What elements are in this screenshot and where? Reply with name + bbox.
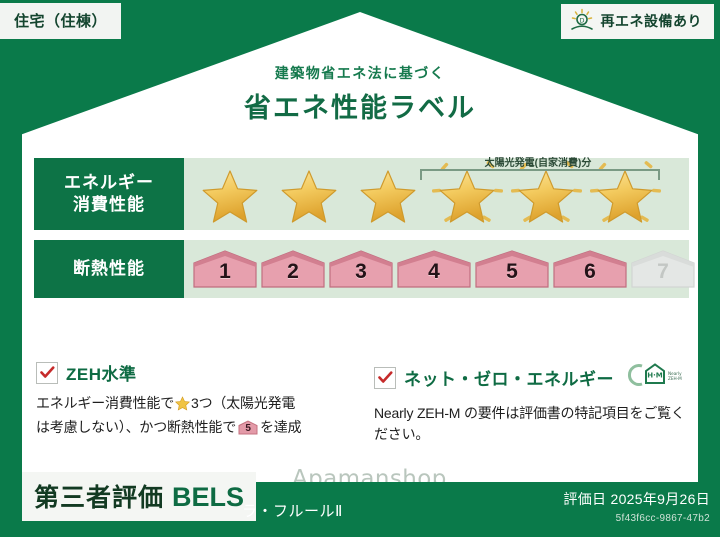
svg-text:H·M: H·M: [647, 372, 663, 380]
criteria-zeh-text-4: を達成: [260, 419, 301, 435]
building-type-chip: 住宅（住棟）: [0, 3, 121, 39]
insulation-level-3: 3: [328, 247, 394, 291]
solar-note-label: 太陽光発電(自家消費)分: [418, 154, 658, 169]
insulation-level-number: 4: [428, 260, 440, 291]
energy-performance-label: 住宅（住棟） D 再エネ設備あり 建築物省エネ法に基づく 省エネ性能ラベル: [0, 0, 720, 537]
criteria-nzeb-header: ネット・ゼロ・エネルギー H·M Nearly ZEH-M: [374, 360, 686, 395]
energy-performance-value: 太陽光発電(自家消費)分: [184, 158, 689, 230]
insulation-level-6: 6: [552, 247, 628, 291]
bels-en-label: BELS: [172, 482, 244, 513]
criteria-zeh-text-3: は考慮しない）、かつ断熱性能で: [36, 419, 236, 435]
insulation-level-1: 1: [192, 247, 258, 291]
energy-key-line2: 消費性能: [73, 194, 145, 216]
criteria-zeh: ZEH水準 エネルギー消費性能で3つ（太陽光発電 は考慮しない）、かつ断熱性能で…: [36, 360, 348, 446]
building-name: ラ・フルールⅡ: [242, 500, 343, 521]
evaluation-date: 評価日 2025年9月26日: [563, 489, 710, 509]
checkbox-checked-nzeb: [374, 367, 396, 389]
insulation-performance-value: 1234567: [184, 240, 696, 298]
sun-icon: D: [569, 8, 595, 34]
inline-star-icon: [175, 398, 190, 414]
footer-bar: 第三者評価 BELS ラ・フルールⅡ 評価日 2025年9月26日 5f43f6…: [0, 482, 720, 537]
criteria-zeh-body: エネルギー消費性能で3つ（太陽光発電 は考慮しない）、かつ断熱性能で5を達成: [36, 393, 348, 439]
star-1: [190, 158, 269, 230]
zeh-m-logo-icon: H·M Nearly ZEH-M: [626, 360, 682, 395]
inline-level-badge: 5: [238, 420, 258, 435]
insulation-level-number: 6: [584, 260, 596, 291]
criteria-columns: ZEH水準 エネルギー消費性能で3つ（太陽光発電 は考慮しない）、かつ断熱性能で…: [36, 360, 686, 446]
inline-badge-number: 5: [238, 422, 258, 435]
star-3: [348, 158, 427, 230]
evaluation-info: 評価日 2025年9月26日 5f43f6cc-9867-47b2: [563, 489, 710, 524]
label-title: 建築物省エネ法に基づく 省エネ性能ラベル: [0, 63, 720, 125]
svg-text:D: D: [579, 16, 584, 24]
insulation-level-number: 3: [355, 260, 367, 291]
renewable-equipment-badge: D 再エネ設備あり: [561, 4, 715, 39]
title-subtitle: 建築物省エネ法に基づく: [0, 63, 720, 83]
criteria-nzeb-body: Nearly ZEH-M の要件は評価書の特記項目をご覧ください。: [374, 403, 686, 446]
energy-key-line1: エネルギー: [64, 172, 154, 194]
insulation-level-list: 1234567: [184, 247, 696, 291]
checkbox-checked-zeh: [36, 362, 58, 384]
insulation-level-number: 2: [287, 260, 299, 291]
star-2: [269, 158, 348, 230]
criteria-nzeb-title: ネット・ゼロ・エネルギー: [404, 365, 614, 390]
insulation-key-label: 断熱性能: [73, 258, 145, 280]
performance-block: エネルギー 消費性能 太陽光発電(自家消費)分 断熱性能 1234567: [34, 158, 689, 308]
energy-performance-key: エネルギー 消費性能: [34, 158, 184, 230]
criteria-zeh-text-2: 3つ（太陽光発電: [191, 395, 295, 411]
insulation-performance-row: 断熱性能 1234567: [34, 240, 689, 298]
svg-text:ZEH-M: ZEH-M: [668, 376, 682, 381]
renewable-badge-label: 再エネ設備あり: [601, 11, 703, 31]
criteria-zeh-header: ZEH水準: [36, 360, 348, 385]
insulation-level-5: 5: [474, 247, 550, 291]
criteria-nzeb: ネット・ゼロ・エネルギー H·M Nearly ZEH-M Nearly ZEH…: [374, 360, 686, 446]
evaluation-id: 5f43f6cc-9867-47b2: [563, 513, 710, 524]
title-main: 省エネ性能ラベル: [0, 86, 720, 125]
insulation-level-7: 7: [630, 247, 696, 291]
bels-certification-box: 第三者評価 BELS: [22, 472, 256, 521]
insulation-level-number: 1: [219, 260, 231, 291]
criteria-zeh-text-1: エネルギー消費性能で: [36, 395, 174, 411]
insulation-performance-key: 断熱性能: [34, 240, 184, 298]
energy-performance-row: エネルギー 消費性能 太陽光発電(自家消費)分: [34, 158, 689, 230]
insulation-level-2: 2: [260, 247, 326, 291]
insulation-level-number: 7: [657, 260, 669, 291]
criteria-zeh-title: ZEH水準: [66, 360, 137, 385]
bels-jp-label: 第三者評価: [34, 478, 164, 514]
insulation-level-number: 5: [506, 260, 518, 291]
insulation-level-4: 4: [396, 247, 472, 291]
solar-bracket: [420, 169, 660, 180]
